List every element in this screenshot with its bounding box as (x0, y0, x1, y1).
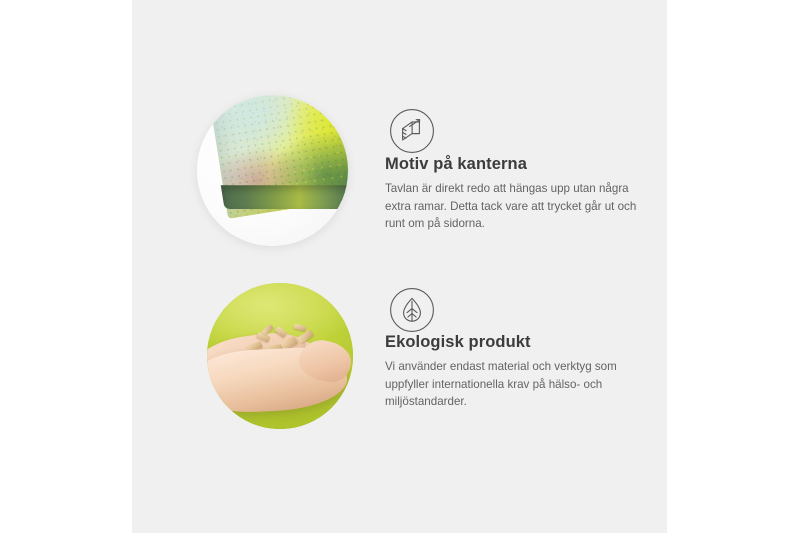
leaf-icon (389, 287, 435, 333)
canvas-block (208, 95, 348, 241)
feature-edges-title: Motiv på kanterna (385, 155, 657, 174)
feature-edges-text: Motiv på kanterna Tavlan är direkt redo … (385, 155, 657, 233)
feature-edges-body: Tavlan är direkt redo att hängas upp uta… (385, 180, 657, 233)
canvas-print-corner-photo (197, 95, 348, 246)
canvas-wrapped-edge (221, 185, 348, 209)
product-feature-panel: Motiv på kanterna Tavlan är direkt redo … (0, 0, 800, 533)
hands-with-wood-chips-photo (207, 283, 353, 429)
canvas-edge-wrap-icon (389, 108, 435, 154)
feature-eco-body: Vi använder endast material och verktyg … (385, 358, 657, 411)
content-panel: Motiv på kanterna Tavlan är direkt redo … (132, 0, 667, 533)
feature-eco-text: Ekologisk produkt Vi använder endast mat… (385, 333, 657, 411)
feature-eco-title: Ekologisk produkt (385, 333, 657, 352)
